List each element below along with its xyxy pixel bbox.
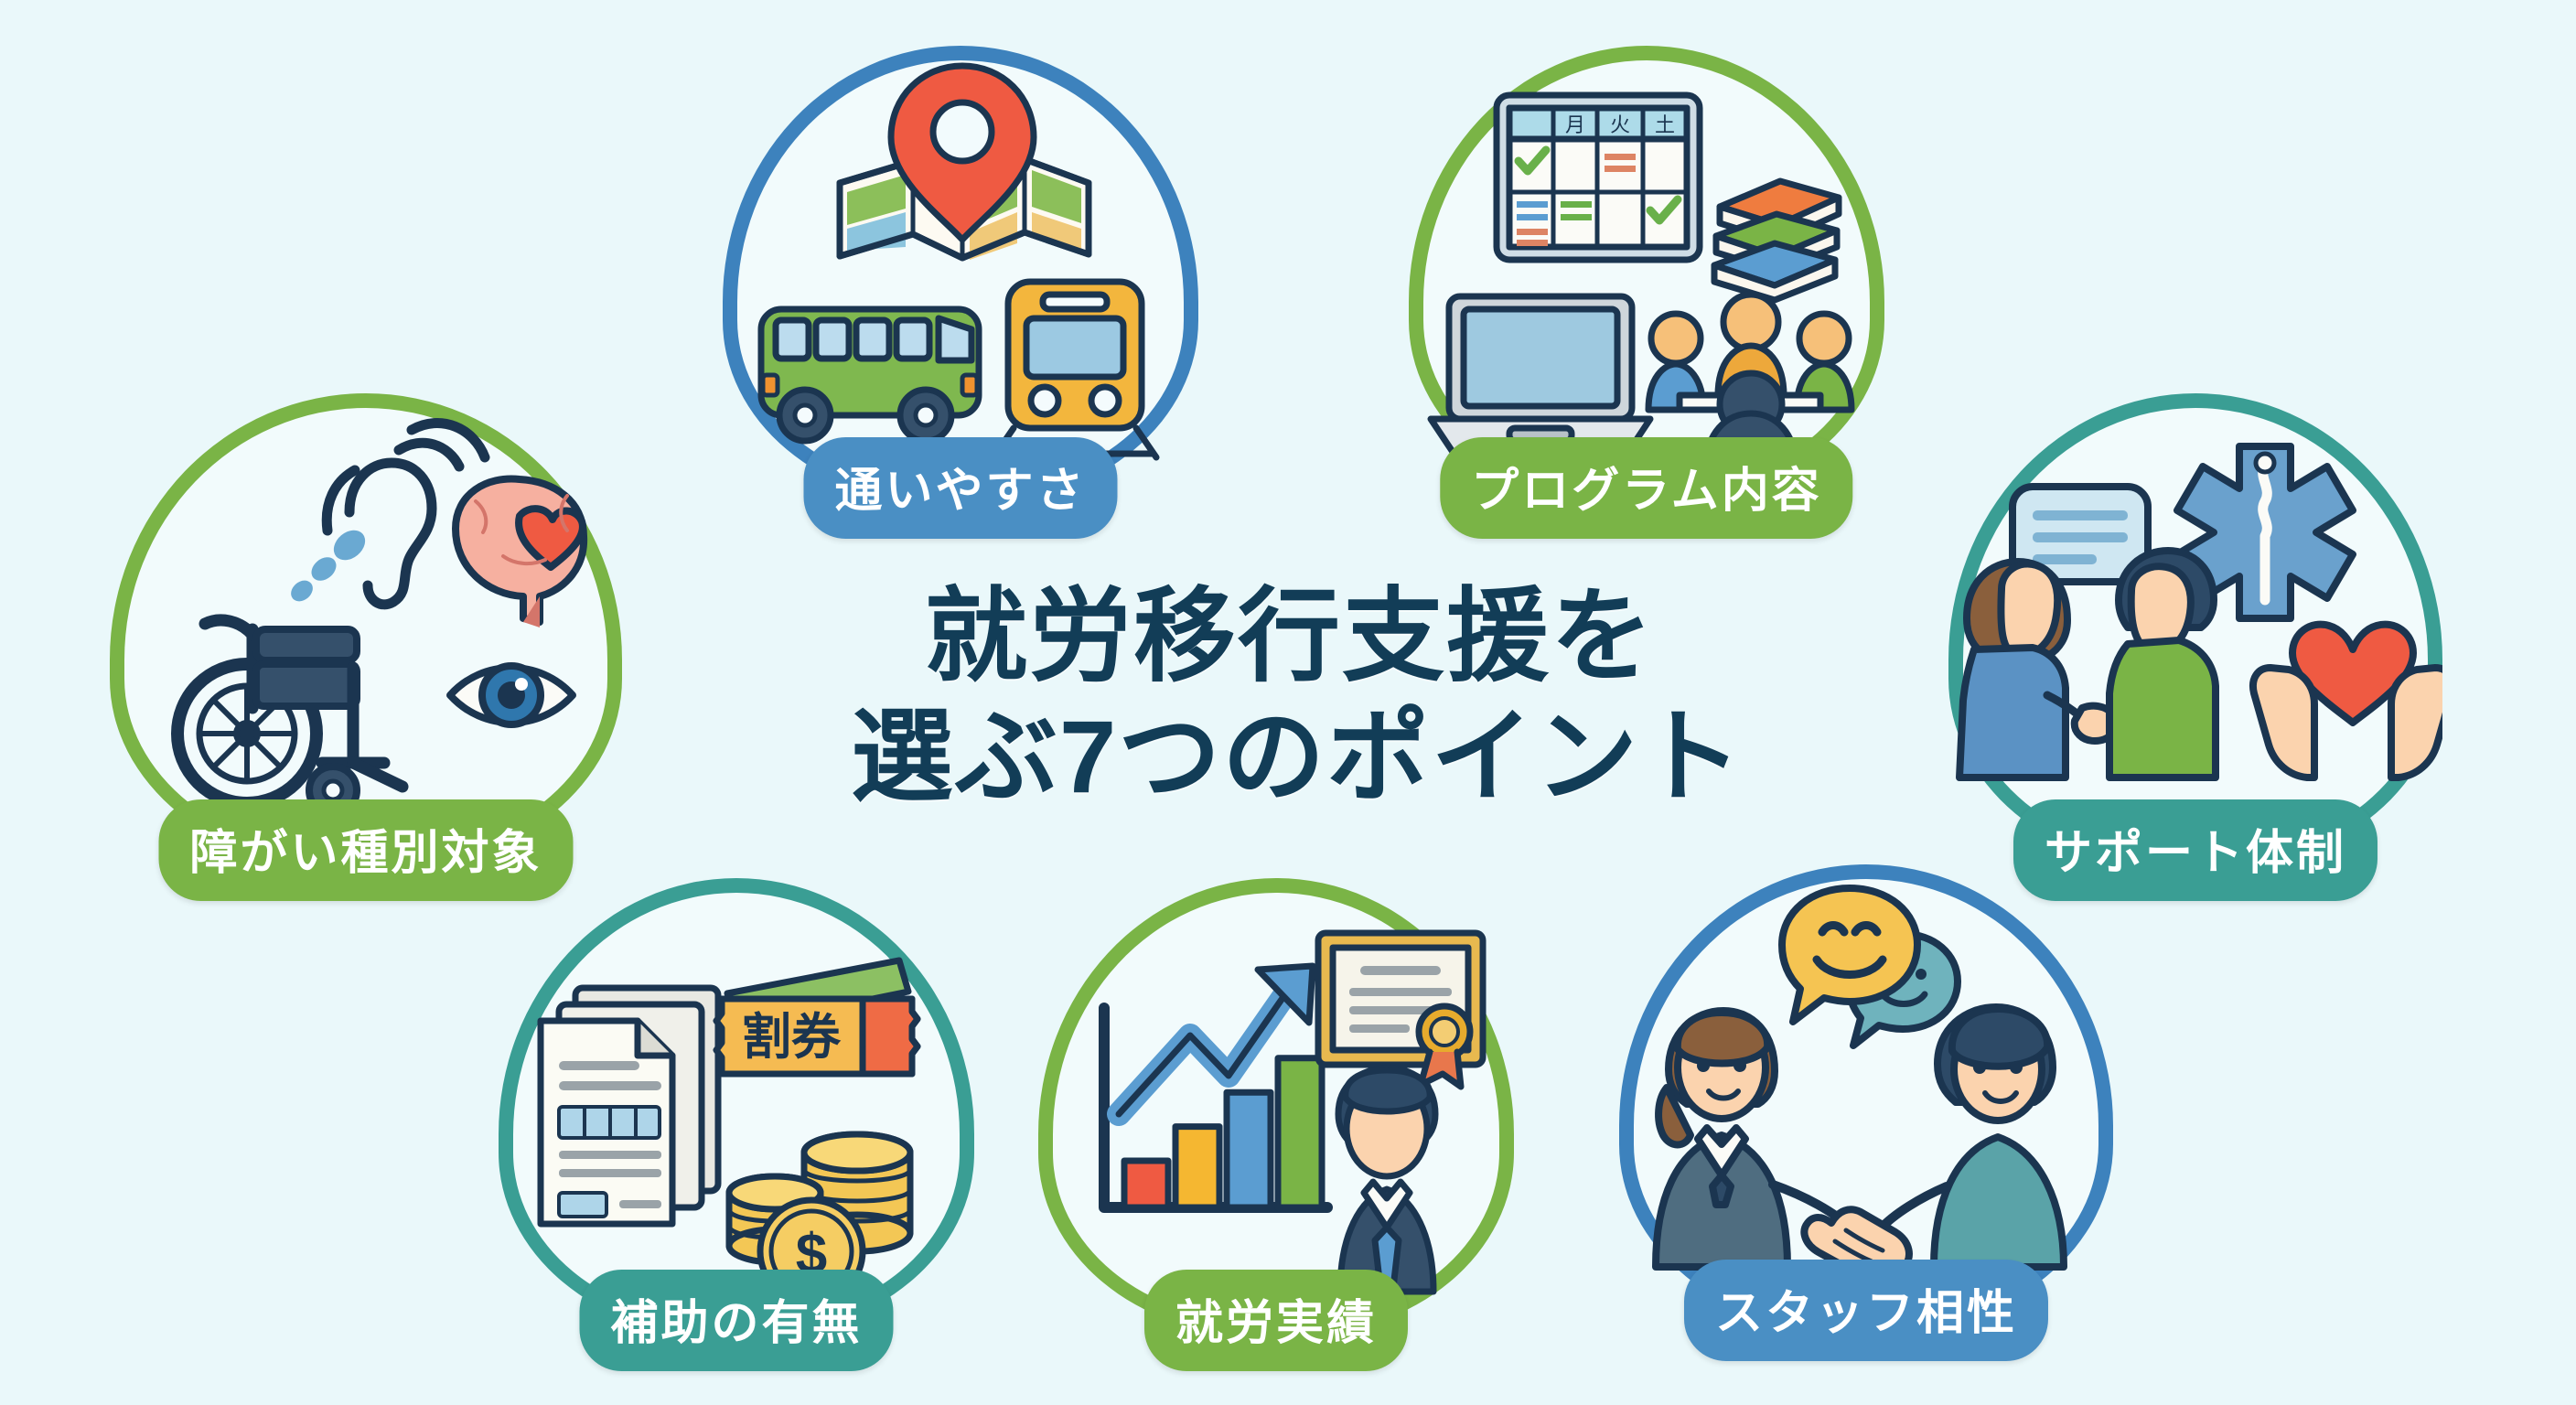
label-pill-subsidy[interactable]: 補助の有無 bbox=[579, 1270, 893, 1371]
schedule-header-mon: 月 bbox=[1565, 113, 1585, 136]
label-pill-program[interactable]: プログラム内容 bbox=[1440, 437, 1852, 539]
label-pill-employment-record[interactable]: 就労実績 bbox=[1144, 1270, 1408, 1371]
coupon-label: 割券 bbox=[742, 1010, 842, 1065]
subsidy-illustration: 割券 bbox=[499, 878, 974, 1335]
bar-1 bbox=[1124, 1161, 1168, 1207]
disability-types-illustration bbox=[110, 393, 622, 869]
point-card-staff-compatibility[interactable]: スタッフ相性 bbox=[1619, 864, 2113, 1331]
program-illustration: 月 火 土 bbox=[1409, 46, 1884, 503]
point-card-disability-types[interactable]: 障がい種別対象 bbox=[110, 393, 622, 869]
infographic-canvas: 就労移行支援を 選ぶ7つのポイント bbox=[0, 0, 2576, 1405]
bar-3 bbox=[1227, 1092, 1271, 1207]
title-line-2: 選ぶ7つのポイント bbox=[851, 697, 1729, 818]
label-pill-access[interactable]: 通いやすさ bbox=[803, 437, 1117, 539]
employment-record-illustration bbox=[1038, 878, 1514, 1335]
bar-4 bbox=[1278, 1058, 1322, 1207]
support-illustration bbox=[1948, 393, 2442, 869]
point-card-program[interactable]: 月 火 土 bbox=[1409, 46, 1884, 503]
schedule-header-tue: 火 bbox=[1610, 113, 1630, 136]
point-card-subsidy[interactable]: 割券 bbox=[499, 878, 974, 1335]
schedule-header-sat: 土 bbox=[1655, 113, 1675, 136]
label-pill-staff-compatibility[interactable]: スタッフ相性 bbox=[1684, 1260, 2048, 1361]
point-card-employment-record[interactable]: 就労実績 bbox=[1038, 878, 1514, 1335]
point-card-access[interactable]: 通いやすさ bbox=[723, 46, 1198, 503]
access-illustration bbox=[723, 46, 1198, 503]
point-card-support[interactable]: サポート体制 bbox=[1948, 393, 2442, 869]
page-title: 就労移行支援を 選ぶ7つのポイント bbox=[851, 576, 1729, 818]
bar-2 bbox=[1175, 1127, 1219, 1207]
title-line-1: 就労移行支援を bbox=[851, 576, 1729, 697]
